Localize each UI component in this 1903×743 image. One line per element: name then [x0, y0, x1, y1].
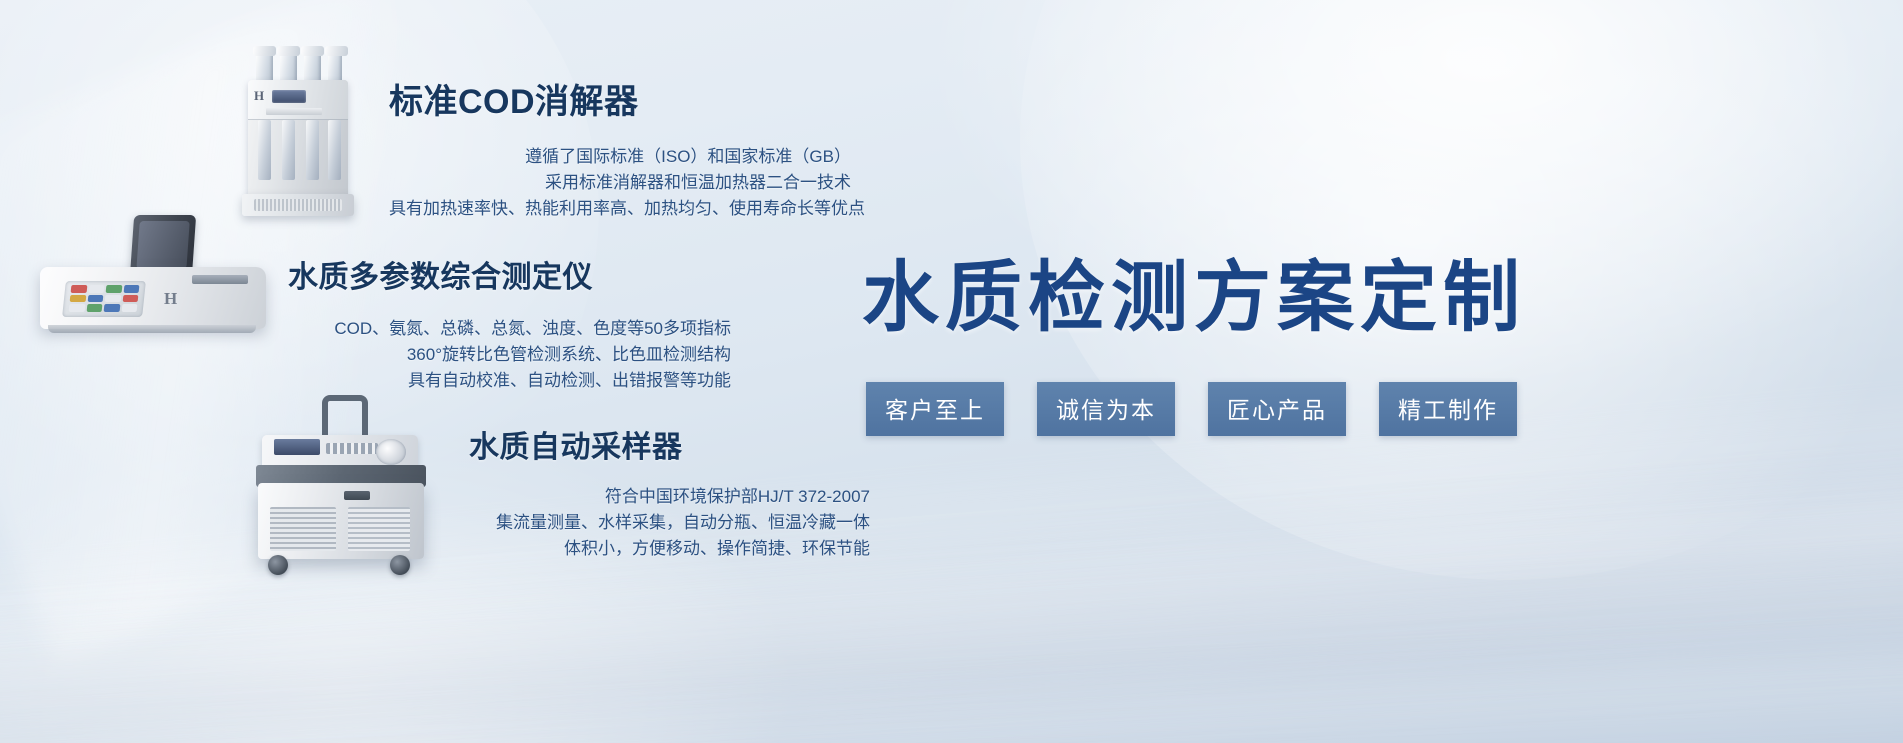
digester-display: [272, 90, 306, 103]
main-headline: 水质检测方案定制: [862, 236, 1522, 347]
sampler-vent-right: [348, 507, 410, 551]
product-description-line: 采用标准消解器和恒温加热器二合一技术: [389, 170, 851, 196]
product-title: 标准COD消解器: [389, 74, 851, 123]
product-description: 符合中国环境保护部HJ/T 372-2007 集流量测量、水样采集，自动分瓶、恒…: [469, 484, 870, 562]
product-description-line: 具有加热速率快、热能利用率高、加热均匀、使用寿命长等优点: [389, 196, 851, 222]
digester-brand-mark: H: [254, 88, 268, 104]
product-block-multiparameter-analyzer: 水质多参数综合测定仪 COD、氨氮、总磷、总氮、浊度、色度等50多项指标 360…: [288, 252, 731, 394]
slogan-badge-customer-first[interactable]: 客户至上: [866, 382, 1004, 436]
slogan-badge-group: 客户至上 诚信为本 匠心产品 精工制作: [866, 382, 1517, 436]
product-description-line: 符合中国环境保护部HJ/T 372-2007: [469, 484, 870, 510]
product-description-line: 具有自动校准、自动检测、出错报警等功能: [288, 368, 731, 394]
product-title: 水质多参数综合测定仪: [288, 252, 731, 296]
light-streak-4: [0, 618, 1903, 743]
analyzer-keypad: [69, 285, 140, 312]
product-description-line: COD、氨氮、总磷、总氮、浊度、色度等50多项指标: [288, 316, 731, 342]
product-description-line: 体积小，方便移动、操作简捷、环保节能: [469, 536, 870, 562]
digester-tube-4: [328, 120, 341, 180]
product-description-line: 集流量测量、水样采集，自动分瓶、恒温冷藏一体: [469, 510, 870, 536]
sampler-vent-left: [270, 507, 336, 551]
product-description-line: 遵循了国际标准（ISO）和国家标准（GB）: [389, 144, 851, 170]
auto-water-sampler-photo: [248, 395, 438, 580]
sampler-wheel-right: [390, 555, 410, 575]
product-description: COD、氨氮、总磷、总氮、浊度、色度等50多项指标 360°旋转比色管检测系统、…: [288, 316, 731, 394]
sampler-display: [274, 439, 320, 455]
product-block-auto-water-sampler: 水质自动采样器 符合中国环境保护部HJ/T 372-2007 集流量测量、水样采…: [469, 422, 870, 562]
slogan-badge-integrity[interactable]: 诚信为本: [1037, 382, 1175, 436]
product-description-line: 360°旋转比色管检测系统、比色皿检测结构: [288, 342, 731, 368]
product-title: 水质自动采样器: [469, 422, 870, 466]
sampler-handle: [322, 395, 368, 439]
analyzer-base: [48, 325, 256, 333]
digester-control-strip: [266, 108, 322, 115]
sampler-button-row: [326, 443, 378, 454]
analyzer-sample-slot: [192, 275, 248, 284]
digester-tube-2: [282, 120, 295, 180]
digester-tube-3: [306, 120, 319, 180]
slogan-badge-fine-workmanship[interactable]: 精工制作: [1379, 382, 1517, 436]
sampler-wheel-left: [268, 555, 288, 575]
slogan-badge-craftsmanship[interactable]: 匠心产品: [1208, 382, 1346, 436]
digester-tube-1: [258, 120, 271, 180]
digester-vent: [254, 199, 342, 211]
product-block-cod-digester: 标准COD消解器 遵循了国际标准（ISO）和国家标准（GB） 采用标准消解器和恒…: [389, 74, 851, 222]
water-quality-banner: H H 标准: [0, 0, 1903, 743]
analyzer-brand-mark: H: [164, 289, 184, 309]
multiparameter-analyzer-photo: H: [40, 215, 270, 340]
sampler-door-handle: [344, 491, 370, 500]
sampler-peristaltic-pump: [376, 439, 406, 465]
product-description: 遵循了国际标准（ISO）和国家标准（GB） 采用标准消解器和恒温加热器二合一技术…: [389, 144, 851, 222]
cod-digester-photo: H: [238, 46, 358, 216]
